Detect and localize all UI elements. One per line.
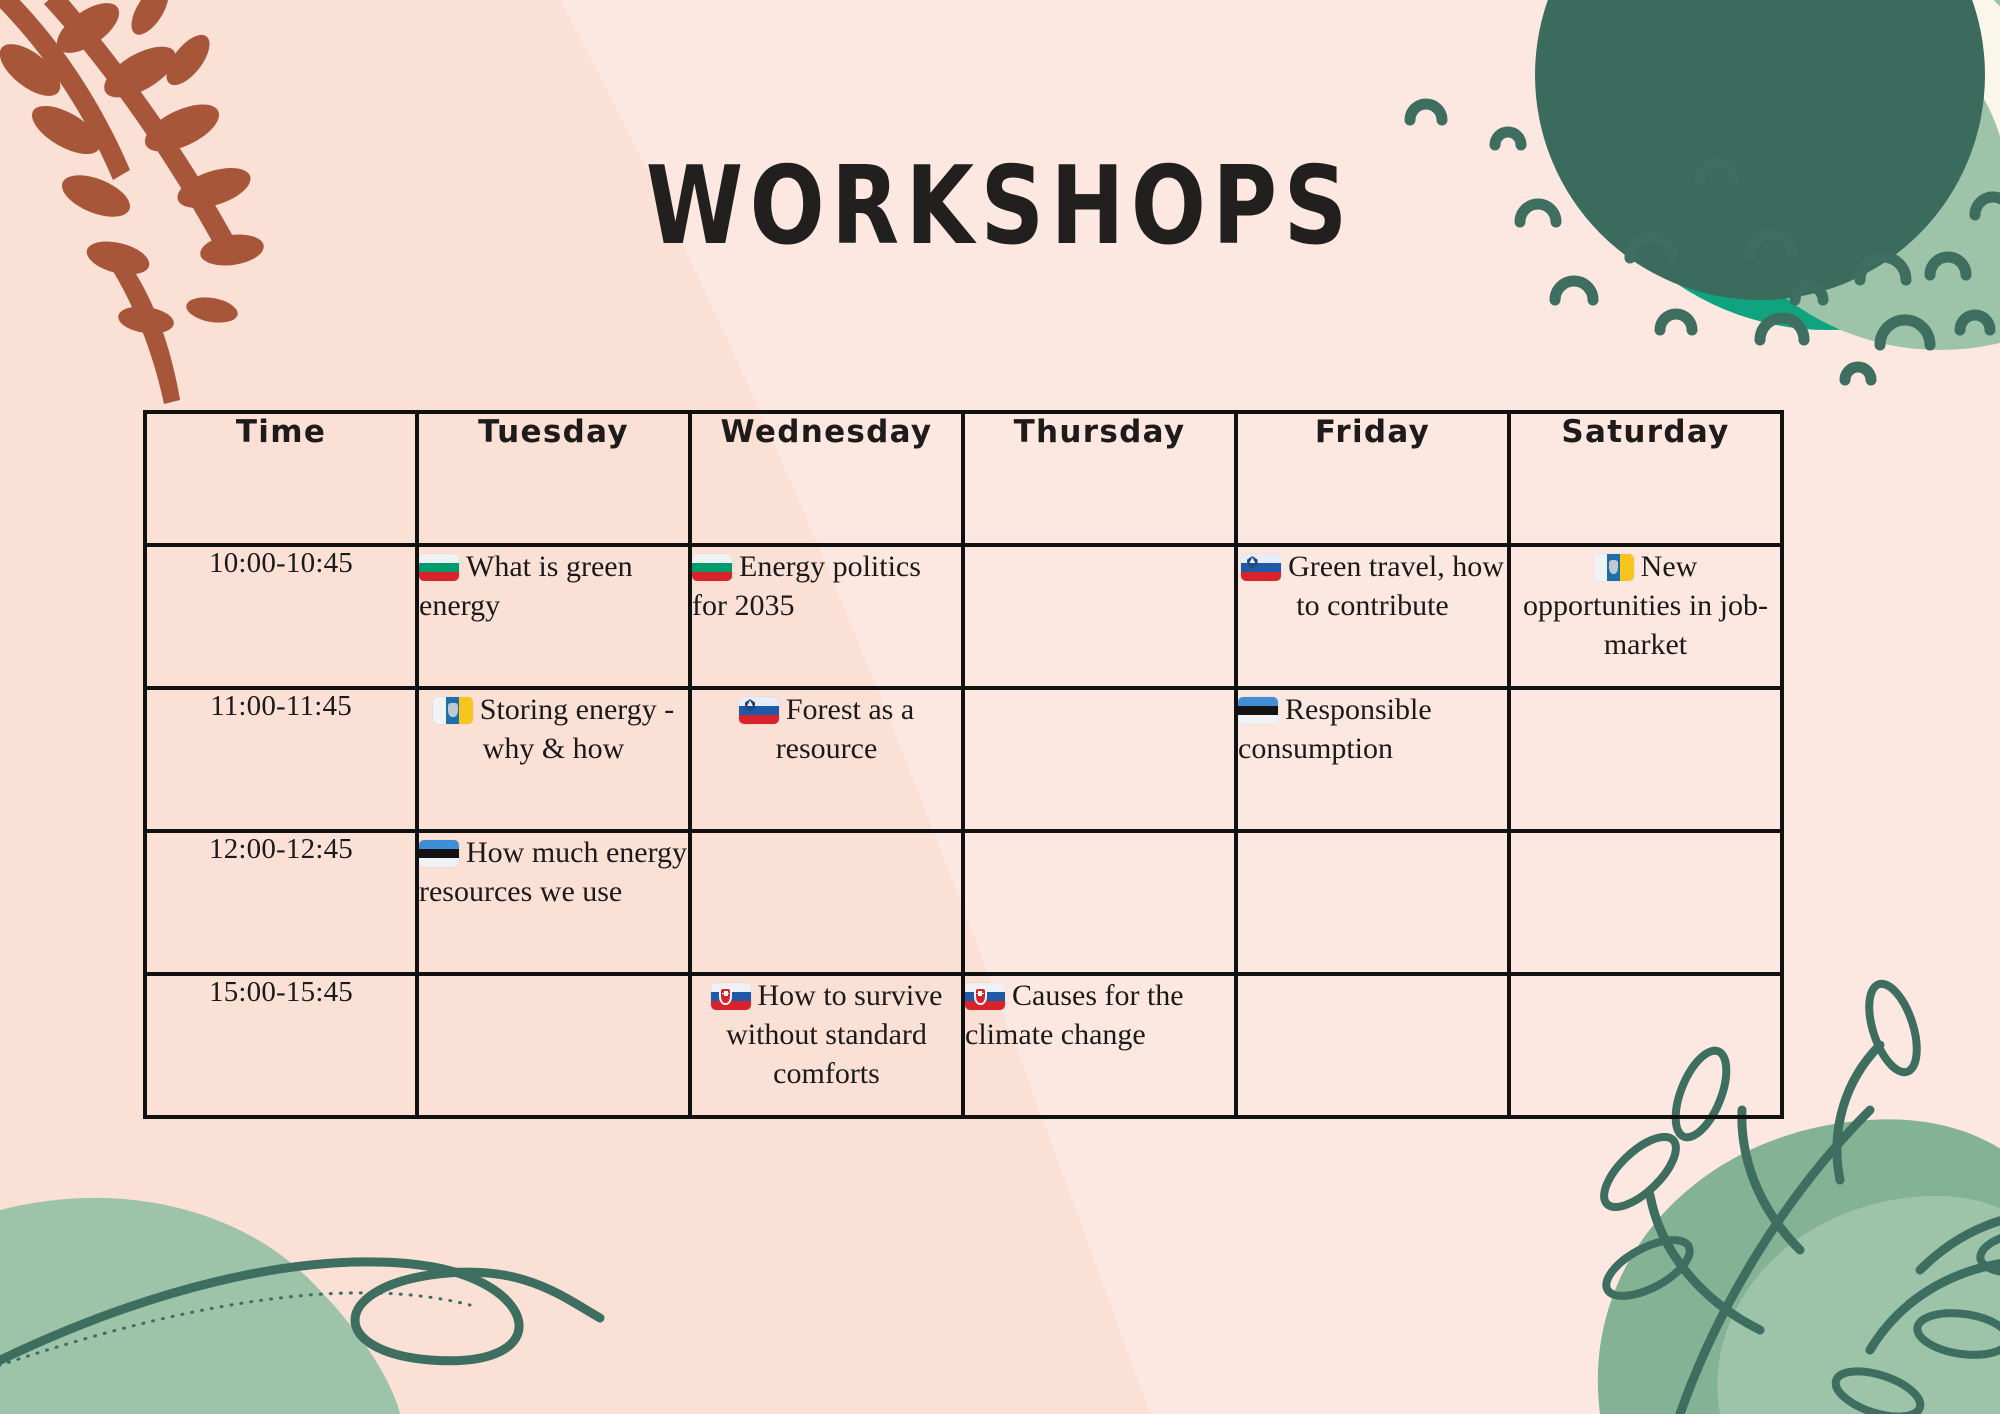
session-content: Green travel, how to contribute (1238, 547, 1507, 625)
poster-canvas: WORKSHOPS Time Tuesday Wednesday Thursda… (0, 0, 2000, 1414)
table-header-row: Time Tuesday Wednesday Thursday Friday S… (145, 412, 1782, 545)
session-content: How much energy resources we use (419, 833, 688, 911)
time-slot-cell: 10:00-10:45 (145, 545, 417, 688)
flag-estonia-icon (1238, 697, 1278, 724)
session-cell[interactable]: How to survive without standard comforts (690, 974, 963, 1117)
session-content: Responsible consumption (1238, 690, 1507, 768)
sage-blob-bottom-right (1598, 1119, 2000, 1414)
column-header-saturday: Saturday (1509, 412, 1782, 545)
session-cell (1236, 831, 1509, 974)
flag-bulgaria-icon (692, 554, 732, 581)
flag-slovenia-icon (1241, 554, 1281, 581)
sage-blob-bottom-right-2 (1717, 1196, 2000, 1414)
time-slot-cell: 12:00-12:45 (145, 831, 417, 974)
table-row: 10:00-10:45What is green energyEnergy po… (145, 545, 1782, 688)
session-cell[interactable]: Storing energy - why & how (417, 688, 690, 831)
flag-slovenia-icon (739, 697, 779, 724)
session-cell[interactable]: What is green energy (417, 545, 690, 688)
session-title: How much energy resources we use (419, 836, 687, 908)
session-cell[interactable]: Energy politics for 2035 (690, 545, 963, 688)
session-cell[interactable]: How much energy resources we use (417, 831, 690, 974)
session-cell (417, 974, 690, 1117)
session-title: Storing energy - why & how (480, 693, 674, 765)
session-content: Storing energy - why & how (419, 690, 688, 768)
session-content: Causes for the climate change (965, 976, 1234, 1054)
session-cell (690, 831, 963, 974)
session-cell (963, 545, 1236, 688)
session-cell (1236, 974, 1509, 1117)
session-title: New opportunities in job-market (1523, 550, 1768, 661)
session-cell[interactable]: Green travel, how to contribute (1236, 545, 1509, 688)
column-header-friday: Friday (1236, 412, 1509, 545)
table-body: 10:00-10:45What is green energyEnergy po… (145, 545, 1782, 1117)
session-content: New opportunities in job-market (1511, 547, 1780, 664)
column-header-thursday: Thursday (963, 412, 1236, 545)
flag-estonia-icon (419, 840, 459, 867)
session-cell (963, 831, 1236, 974)
session-cell (1509, 688, 1782, 831)
session-cell (1509, 831, 1782, 974)
session-cell[interactable]: Responsible consumption (1236, 688, 1509, 831)
session-title: Forest as a resource (776, 693, 914, 765)
session-cell (1509, 974, 1782, 1117)
session-title: How to survive without standard comforts (726, 979, 942, 1090)
time-slot-cell: 15:00-15:45 (145, 974, 417, 1117)
session-cell (963, 688, 1236, 831)
column-header-time: Time (145, 412, 417, 545)
session-content: How to survive without standard comforts (692, 976, 961, 1093)
table-row: 12:00-12:45How much energy resources we … (145, 831, 1782, 974)
flag-slovakia-icon (711, 983, 751, 1010)
session-content: Energy politics for 2035 (692, 547, 961, 625)
session-title: Green travel, how to contribute (1288, 550, 1504, 622)
table-row: 15:00-15:45How to survive without standa… (145, 974, 1782, 1117)
column-header-wednesday: Wednesday (690, 412, 963, 545)
workshops-schedule-table: Time Tuesday Wednesday Thursday Friday S… (143, 410, 1784, 1119)
session-cell[interactable]: Forest as a resource (690, 688, 963, 831)
column-header-tuesday: Tuesday (417, 412, 690, 545)
flag-canary-islands-icon (433, 697, 473, 724)
session-content: Forest as a resource (692, 690, 961, 768)
time-slot-cell: 11:00-11:45 (145, 688, 417, 831)
flag-bulgaria-icon (419, 554, 459, 581)
dark-green-circle (1535, 0, 1985, 300)
title-container: WORKSHOPS (0, 158, 2000, 254)
wave-line (0, 1262, 600, 1372)
flag-slovakia-icon (965, 983, 1005, 1010)
sage-blob-bottom-left (0, 1198, 400, 1414)
session-cell[interactable]: New opportunities in job-market (1509, 545, 1782, 688)
flag-canary-islands-icon (1594, 554, 1634, 581)
page-title: WORKSHOPS (646, 152, 1354, 260)
session-content: What is green energy (419, 547, 688, 625)
session-cell[interactable]: Causes for the climate change (963, 974, 1236, 1117)
table-row: 11:00-11:45Storing energy - why & howFor… (145, 688, 1782, 831)
